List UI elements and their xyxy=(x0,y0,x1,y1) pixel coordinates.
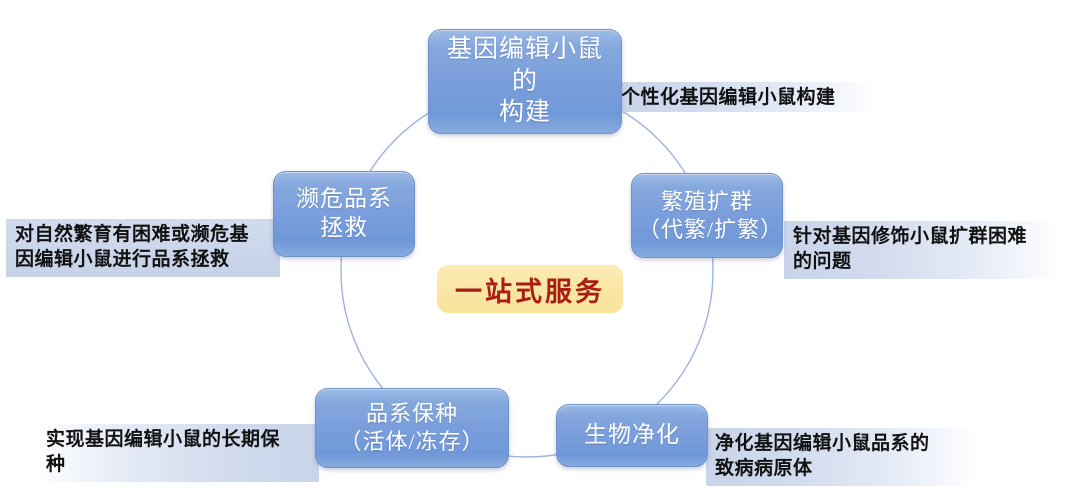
center-badge-label: 一站式服务 xyxy=(455,270,605,309)
node-preservation-line1: 品系保种 xyxy=(366,401,458,426)
callout-breeding-line2: 的问题 xyxy=(793,250,1052,275)
node-breeding-line2: （代繁/扩繁） xyxy=(638,217,783,242)
callout-purification-line1: 净化基因编辑小鼠品系的 xyxy=(715,432,968,457)
callout-rescue: 对自然繁育有困难或濒危基 因编辑小鼠进行品系拯救 xyxy=(6,219,280,277)
callout-preservation-line2: 种 xyxy=(46,453,311,478)
node-breeding-line1: 繁殖扩群 xyxy=(661,189,753,214)
node-rescue-line1: 濒危品系 xyxy=(296,186,392,211)
node-preservation[interactable]: 品系保种 （活体/冻存） xyxy=(315,388,509,468)
center-badge: 一站式服务 xyxy=(437,265,623,313)
node-construction-line1: 基因编辑小鼠的 xyxy=(447,36,603,95)
node-purification[interactable]: 生物净化 xyxy=(556,404,708,467)
callout-construction-line1: 个性化基因编辑小鼠构建 xyxy=(621,86,866,111)
callout-breeding-line1: 针对基因修饰小鼠扩群困难 xyxy=(793,225,1052,250)
node-rescue-line2: 拯救 xyxy=(320,215,368,240)
callout-breeding: 针对基因修饰小鼠扩群困难 的问题 xyxy=(784,221,1060,279)
callout-preservation: 实现基因编辑小鼠的长期保 种 xyxy=(37,424,319,482)
callout-purification-line2: 致病病原体 xyxy=(715,457,968,482)
callout-construction: 个性化基因编辑小鼠构建 xyxy=(612,82,874,112)
callout-rescue-line2: 因编辑小鼠进行品系拯救 xyxy=(15,248,272,273)
node-breeding[interactable]: 繁殖扩群 （代繁/扩繁） xyxy=(631,173,783,258)
callout-rescue-line1: 对自然繁育有困难或濒危基 xyxy=(15,223,272,248)
node-preservation-line2: （活体/冻存） xyxy=(339,429,484,454)
callout-purification: 净化基因编辑小鼠品系的 致病病原体 xyxy=(706,428,976,486)
node-rescue[interactable]: 濒危品系 拯救 xyxy=(273,171,415,257)
node-purification-label: 生物净化 xyxy=(578,421,686,450)
diagram-canvas: 个性化基因编辑小鼠构建 针对基因修饰小鼠扩群困难 的问题 净化基因编辑小鼠品系的… xyxy=(0,0,1069,501)
node-purification-line1: 生物净化 xyxy=(584,422,680,447)
node-construction[interactable]: 基因编辑小鼠的 构建 xyxy=(428,29,622,134)
node-preservation-label: 品系保种 （活体/冻存） xyxy=(333,400,490,455)
callout-preservation-line1: 实现基因编辑小鼠的长期保 xyxy=(46,428,311,453)
node-rescue-label: 濒危品系 拯救 xyxy=(290,185,398,243)
node-breeding-label: 繁殖扩群 （代繁/扩繁） xyxy=(632,188,782,243)
node-construction-line2: 构建 xyxy=(499,99,551,126)
node-construction-label: 基因编辑小鼠的 构建 xyxy=(429,34,621,129)
